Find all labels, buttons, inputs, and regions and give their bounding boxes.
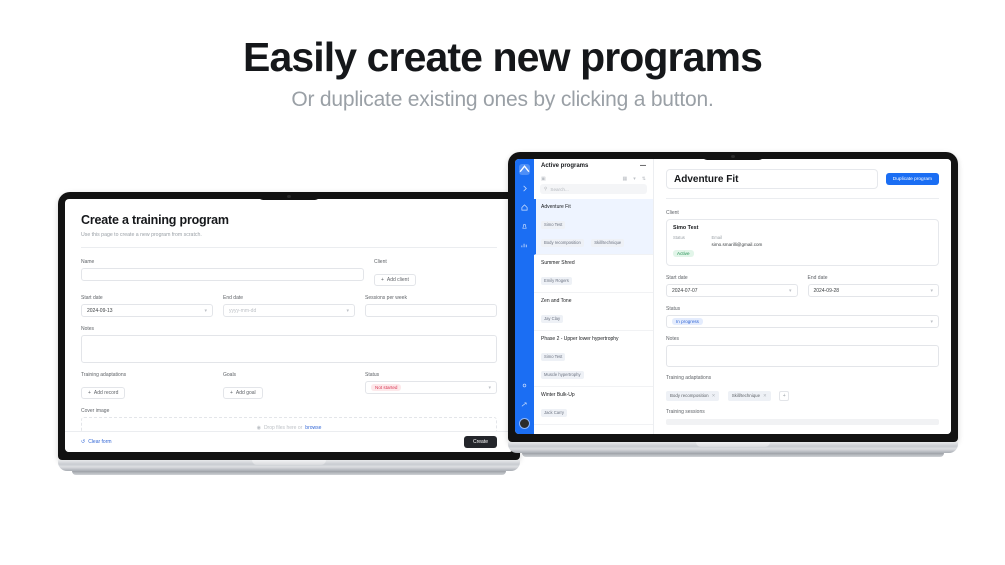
end-date-input[interactable]: 2024-09-28 ▾ [808, 284, 940, 297]
training-sessions-group: Training sessions [666, 409, 939, 425]
help-icon[interactable] [520, 399, 530, 409]
client-status-key: Status [673, 235, 694, 240]
programs-list-toolbar: ▣ ▦ ▾ ⇅ [534, 173, 653, 184]
end-date-input[interactable]: yyyy-mm-dd ▾ [223, 304, 355, 317]
laptop-left-base-foot [72, 471, 506, 475]
programs-list-pane: Active programs — ▣ ▦ ▾ ⇅ ⚲ [534, 159, 654, 434]
add-record-label: Add record [94, 390, 118, 396]
end-date-group: End date yyyy-mm-dd ▾ [223, 295, 355, 317]
client-meta: Status Active Email simo.smarilli@gmail.… [673, 235, 932, 260]
laptop-left: Create a training program Use this page … [58, 192, 520, 475]
sessions-per-week-input[interactable] [365, 304, 497, 317]
chevron-down-icon: ▾ [930, 319, 933, 325]
program-name: Zen and Tone [541, 298, 646, 304]
start-date-value: 2024-09-13 [87, 308, 113, 314]
training-adaptations-group: Training adaptations Body recomposition … [666, 375, 939, 402]
name-input[interactable] [81, 268, 364, 281]
start-date-group: Start date 2024-07-07 ▾ [666, 275, 798, 297]
chevron-down-icon: ▾ [204, 308, 207, 314]
program-tag: Skill/technique [591, 239, 624, 247]
sessions-per-week-label: Sessions per week [365, 295, 497, 301]
goals-label: Goals [223, 372, 355, 378]
program-client-chip: Simo Test [541, 221, 565, 229]
search-placeholder: Search... [550, 187, 568, 192]
end-date-value: 2024-09-28 [814, 288, 840, 294]
end-date-label: End date [808, 275, 940, 281]
adaptation-tag-label: Body recomposition [670, 393, 709, 398]
laptop-notch-icon [258, 192, 320, 200]
status-badge: Active [673, 250, 694, 257]
chevron-down-icon: ▾ [346, 308, 349, 314]
program-client-chip: Emily Rogers [541, 277, 572, 285]
program-detail-pane: Adventure Fit Duplicate program Client S… [654, 159, 951, 434]
status-select[interactable]: Not started ▾ [365, 381, 497, 394]
chevron-right-icon[interactable] [520, 183, 530, 193]
list-item[interactable]: Summer Shred Emily Rogers [534, 255, 653, 293]
goals-group: Goals + Add goal [223, 372, 355, 399]
client-email-key: Email [712, 235, 763, 240]
client-label: Client [666, 210, 939, 216]
laptop-right-base [508, 442, 958, 453]
app-rail [515, 159, 534, 434]
chevron-down-icon: ▾ [488, 385, 491, 391]
program-tag: Muscle hypertrophy [541, 371, 584, 379]
start-date-label: Start date [666, 275, 798, 281]
laptop-right-lid: Active programs — ▣ ▦ ▾ ⇅ ⚲ [508, 152, 958, 442]
form-footer: ↺ Clear form Create [65, 431, 513, 452]
collapse-icon[interactable]: — [640, 163, 646, 169]
divider [81, 247, 497, 248]
notes-textarea[interactable] [666, 345, 939, 367]
laptop-left-screen: Create a training program Use this page … [65, 199, 513, 452]
page-title: Easily create new programs [0, 34, 1005, 81]
close-icon[interactable]: ✕ [712, 393, 716, 399]
create-program-page: Create a training program Use this page … [65, 199, 513, 452]
status-badge: In progress [672, 318, 703, 325]
notes-label: Notes [666, 336, 939, 342]
chevron-down-icon: ▾ [930, 288, 933, 294]
client-email-group: Email simo.smarilli@gmail.com [712, 235, 763, 260]
program-client-chip: Simo Test [541, 353, 565, 361]
program-tag: Body recomposition [541, 239, 584, 247]
program-name: Summer Shred [541, 260, 646, 266]
filter-icon[interactable]: ▾ [633, 176, 636, 182]
programs-list-title: Active programs [541, 163, 588, 169]
close-icon[interactable]: ✕ [763, 393, 767, 399]
laptop-notch-icon [702, 152, 764, 160]
add-adaptation-button[interactable]: + [779, 391, 789, 401]
training-adaptations-label: Training adaptations [81, 372, 213, 378]
gear-icon[interactable] [520, 380, 530, 390]
client-name: Simo Test [673, 225, 932, 231]
laptop-right: Active programs — ▣ ▦ ▾ ⇅ ⚲ [508, 152, 958, 457]
program-app: Active programs — ▣ ▦ ▾ ⇅ ⚲ [515, 159, 951, 434]
training-adaptations-group: Training adaptations + Add record [81, 372, 213, 399]
program-detail-header: Adventure Fit Duplicate program [666, 169, 939, 189]
program-name: Phase 2 - Upper lower hypertrophy [541, 336, 646, 342]
avatar[interactable] [519, 418, 530, 429]
plus-icon: + [88, 390, 91, 396]
cover-image-label: Cover image [81, 408, 497, 414]
program-status-label: Status [666, 306, 939, 312]
program-client-chip: Jay Clay [541, 315, 563, 323]
program-status-group: Status In progress ▾ [666, 306, 939, 328]
chart-icon[interactable] [520, 240, 530, 250]
client-field-group: Client + Add client [374, 259, 497, 286]
slide-canvas: Easily create new programs Or duplicate … [0, 0, 1005, 565]
status-group: Status Not started ▾ [365, 372, 497, 399]
chevron-down-icon: ▾ [789, 288, 792, 294]
end-date-group: End date 2024-09-28 ▾ [808, 275, 940, 297]
status-label: Status [365, 372, 497, 378]
plus-icon: + [230, 390, 233, 396]
create-program-subtitle: Use this page to create a new program fr… [81, 232, 497, 238]
name-label: Name [81, 259, 364, 265]
client-card[interactable]: Simo Test Status Active Email simo.smari… [666, 219, 939, 266]
adaptation-tag-label: Skill/technique [732, 393, 760, 398]
duplicate-program-button[interactable]: Duplicate program [886, 173, 939, 185]
training-sessions-label: Training sessions [666, 409, 939, 415]
detail-dates-row: Start date 2024-07-07 ▾ End date 2024-09… [666, 275, 939, 297]
end-date-placeholder: yyyy-mm-dd [229, 308, 256, 314]
start-date-input[interactable]: 2024-09-13 ▾ [81, 304, 213, 317]
client-email-value: simo.smarilli@gmail.com [712, 242, 763, 247]
laptop-left-base [58, 460, 520, 471]
name-client-row: Name Client + Add client [81, 259, 497, 286]
clear-form-button[interactable]: ↺ Clear form [81, 439, 112, 445]
add-client-label: Add client [387, 277, 409, 283]
dates-row: Start date 2024-09-13 ▾ End date yyyy-mm… [81, 295, 497, 317]
program-tags: Muscle hypertrophy [541, 363, 646, 381]
notes-label: Notes [81, 326, 497, 332]
sessions-per-week-group: Sessions per week [365, 295, 497, 317]
training-sessions-row [666, 419, 939, 425]
notes-textarea[interactable] [81, 335, 497, 363]
program-status-select[interactable]: In progress ▾ [666, 315, 939, 328]
app-logo-icon [519, 164, 530, 175]
add-record-button[interactable]: + Add record [81, 387, 125, 399]
view-icon[interactable]: ▣ [541, 176, 546, 182]
start-date-value: 2024-07-07 [672, 288, 698, 294]
add-goal-label: Add goal [236, 390, 256, 396]
create-button[interactable]: Create [464, 436, 497, 448]
add-goal-button[interactable]: + Add goal [223, 387, 263, 399]
search-input[interactable]: ⚲ Search... [540, 184, 647, 194]
sort-icon[interactable]: ⇅ [642, 176, 646, 182]
client-label: Client [374, 259, 497, 265]
program-name: Adventure Fit [541, 204, 646, 210]
start-date-input[interactable]: 2024-07-07 ▾ [666, 284, 798, 297]
end-date-label: End date [223, 295, 355, 301]
list-item[interactable]: Phase 2 - Upper lower hypertrophy Simo T… [534, 331, 653, 387]
clear-form-label: Clear form [88, 439, 111, 445]
divider [666, 198, 939, 199]
reset-icon: ↺ [81, 439, 85, 445]
adaptation-tag[interactable]: Body recomposition ✕ [666, 391, 719, 401]
page-subtitle: Or duplicate existing ones by clicking a… [0, 88, 1005, 112]
notes-group: Notes [81, 326, 497, 363]
plus-icon: + [381, 277, 384, 283]
laptop-right-screen: Active programs — ▣ ▦ ▾ ⇅ ⚲ [515, 159, 951, 434]
adaptation-tag[interactable]: Skill/technique ✕ [728, 391, 771, 401]
program-name: Winter Bulk-Up [541, 392, 646, 398]
program-tags: Body recomposition Skill/technique [541, 231, 646, 249]
status-badge: Not started [371, 384, 401, 391]
client-status-group: Status Active [673, 235, 694, 260]
home-icon[interactable] [520, 202, 530, 212]
list-item[interactable]: Adventure Fit Simo Test Body recompositi… [534, 199, 653, 255]
start-date-group: Start date 2024-09-13 ▾ [81, 295, 213, 317]
name-field-group: Name [81, 259, 364, 286]
list-item[interactable]: Zen and Tone Jay Clay [534, 293, 653, 331]
programs-list-header: Active programs — [534, 159, 653, 173]
search-icon: ⚲ [544, 186, 547, 192]
program-title-input[interactable]: Adventure Fit [666, 169, 878, 189]
laptop-right-base-foot [522, 453, 944, 457]
notes-group: Notes [666, 336, 939, 367]
bell-icon[interactable] [520, 221, 530, 231]
start-date-label: Start date [81, 295, 213, 301]
program-client-chip: Jack Carry [541, 409, 567, 417]
adaptations-goals-status-row: Training adaptations + Add record Goals … [81, 372, 497, 399]
list-item[interactable]: Winter Bulk-Up Jack Carry [534, 387, 653, 425]
create-program-title: Create a training program [81, 213, 497, 227]
layout-icon[interactable]: ▦ [623, 176, 628, 182]
add-client-button[interactable]: + Add client [374, 274, 416, 286]
training-adaptations-label: Training adaptations [666, 375, 939, 381]
laptop-left-lid: Create a training program Use this page … [58, 192, 520, 460]
toolbar-right-icons: ▦ ▾ ⇅ [623, 176, 646, 182]
